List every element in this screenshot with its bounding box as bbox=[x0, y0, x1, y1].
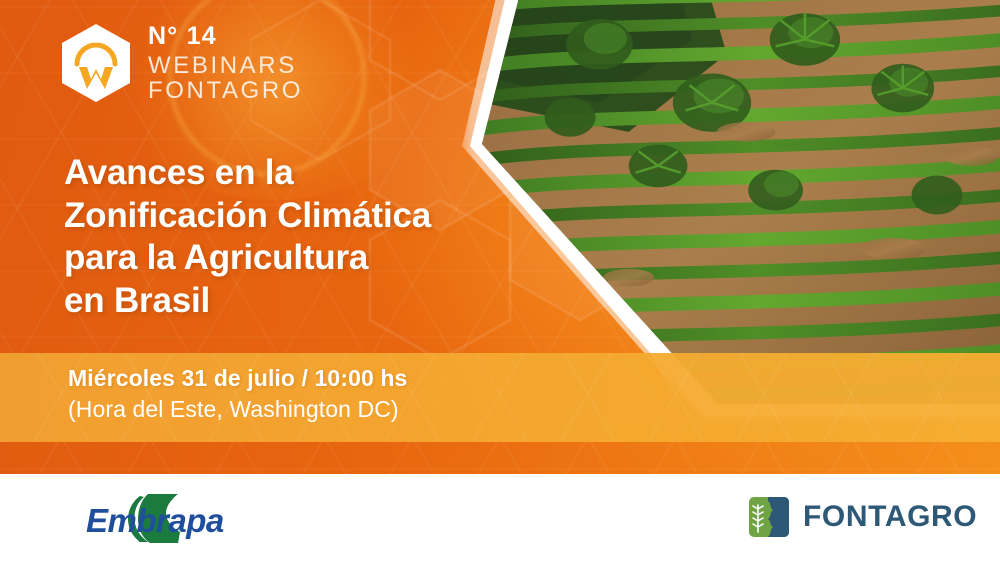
webinar-label-line2: FONTAGRO bbox=[148, 78, 303, 103]
svg-text:Embrapa: Embrapa bbox=[86, 502, 224, 539]
fontagro-wordmark: FONTAGRO bbox=[803, 500, 977, 534]
event-timezone: (Hora del Este, Washington DC) bbox=[68, 395, 407, 425]
photo-corner-cover bbox=[618, 352, 738, 422]
title-line-2: Zonificación Climática bbox=[64, 195, 534, 238]
embrapa-logo: Embrapa bbox=[78, 491, 226, 549]
title-line-1: Avances en la bbox=[64, 152, 534, 195]
hexagon-w-logo-icon bbox=[60, 23, 132, 103]
footer-logo-bar: Embrapa FONTAGRO bbox=[0, 474, 1000, 562]
title-line-4: en Brasil bbox=[64, 280, 534, 323]
webinar-header: N° 14 WEBINARS FONTAGRO bbox=[60, 22, 303, 104]
webinar-label-line1: WEBINARS bbox=[148, 53, 303, 78]
fontagro-logo: FONTAGRO bbox=[748, 496, 977, 538]
event-datetime: Miércoles 31 de julio / 10:00 hs (Hora d… bbox=[68, 364, 407, 425]
webinar-promo-banner: N° 14 WEBINARS FONTAGRO Avances en la Zo… bbox=[0, 0, 1000, 562]
webinar-header-text: N° 14 WEBINARS FONTAGRO bbox=[148, 22, 303, 104]
page-title: Avances en la Zonificación Climática par… bbox=[64, 152, 534, 323]
fontagro-wheat-gear-icon bbox=[748, 496, 790, 538]
event-date-main: Miércoles 31 de julio / 10:00 hs bbox=[68, 364, 407, 393]
title-line-3: para la Agricultura bbox=[64, 237, 534, 280]
webinar-number: N° 14 bbox=[148, 24, 303, 49]
